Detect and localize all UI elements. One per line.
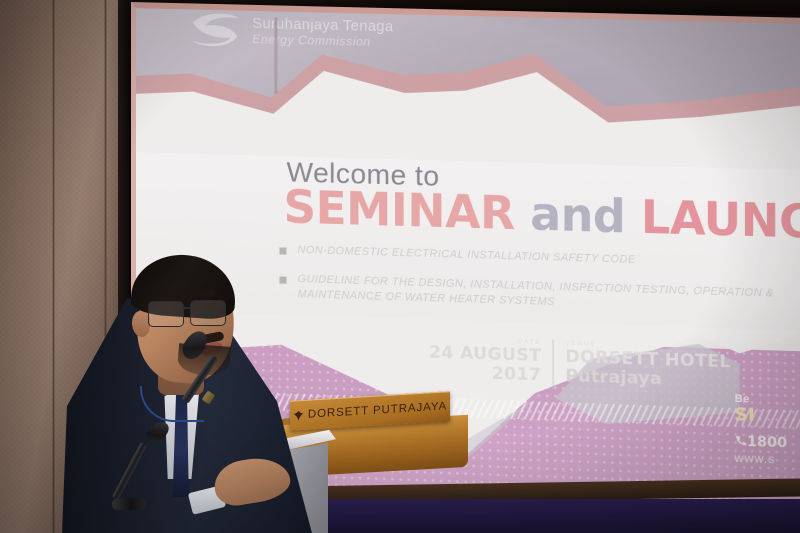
curtain-seam	[52, 0, 55, 533]
promo-phone-number: 1800	[747, 434, 787, 452]
list-item: GUIDELINE FOR THE DESIGN, INSTALLATION, …	[279, 271, 789, 318]
eyeglass-lens-right	[190, 300, 226, 326]
screenshot-root: Suruhanjaya Tenaga Energy Commission	[0, 0, 800, 533]
event-date-line-1: 24 AUGUST	[429, 343, 541, 366]
promo-block: Be SI 1800 www.s	[735, 393, 800, 468]
phone-icon	[735, 434, 747, 447]
promo-website: www.s	[735, 451, 800, 468]
eyeglass-bridge	[182, 307, 191, 309]
promo-phone: 1800	[735, 433, 800, 452]
headline-part-seminar: SEMINAR	[283, 180, 514, 240]
headline-part-and: and	[515, 187, 641, 244]
event-date-line-2: 2017	[429, 363, 541, 386]
speaker-eyeglasses	[148, 301, 242, 327]
list-item: NON-DOMESTIC ELECTRICAL INSTALLATION SAF…	[279, 242, 789, 273]
bullet-text: NON-DOMESTIC ELECTRICAL INSTALLATION SAF…	[298, 243, 636, 269]
bullet-text: GUIDELINE FOR THE DESIGN, INSTALLATION, …	[298, 272, 790, 319]
event-venue-group: VENUE DORSETT HOTEL Putrajaya	[554, 339, 731, 391]
eyeglass-lens-left	[148, 301, 184, 327]
event-date-group: DATE 24 AUGUST 2017	[429, 335, 552, 385]
headline-part-launching: LAUNCHING	[641, 190, 800, 253]
promo-line-2: SI	[735, 406, 800, 427]
bullet-list: NON-DOMESTIC ELECTRICAL INSTALLATION SAF…	[279, 242, 789, 331]
title-accent-bar	[274, 17, 277, 93]
mic-base	[112, 498, 146, 510]
headline: SEMINAR and LAUNCHING	[283, 184, 800, 248]
event-details: DATE 24 AUGUST 2017 VENUE DORSETT HOTEL …	[429, 335, 731, 391]
